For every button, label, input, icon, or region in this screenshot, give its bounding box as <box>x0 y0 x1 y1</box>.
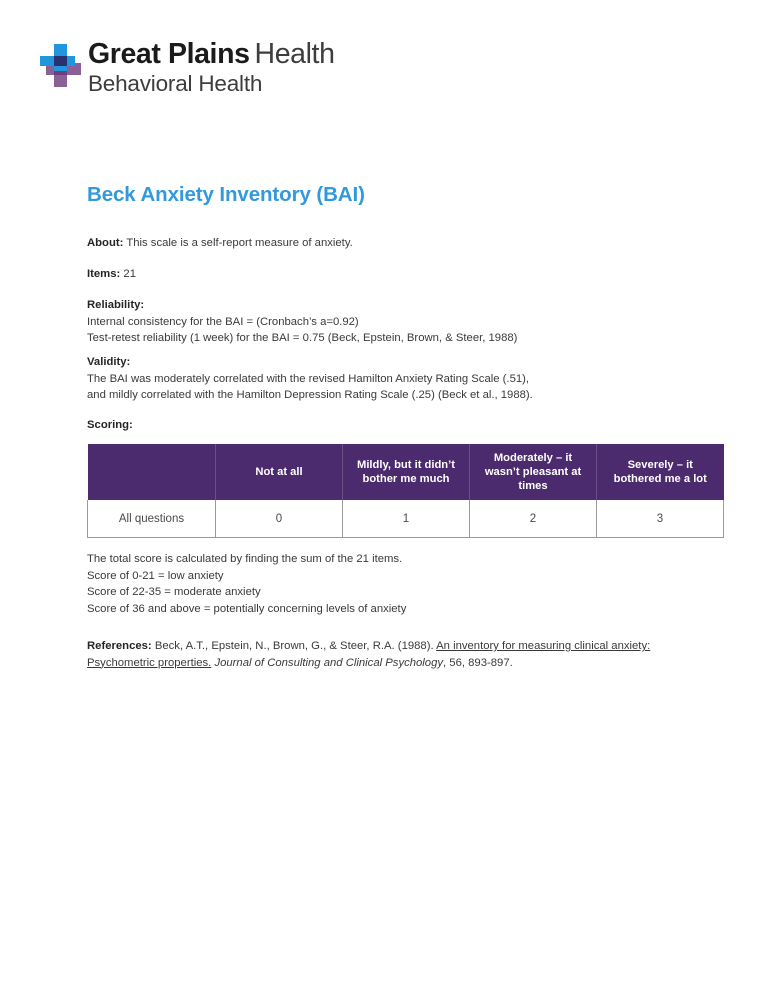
page-title: Beck Anxiety Inventory (BAI) <box>87 183 365 207</box>
great-plains-health-cross-logo <box>38 42 84 92</box>
about-label: About: <box>87 237 123 249</box>
validity-label: Validity: <box>87 354 533 371</box>
brand-logo: Great PlainsHealth Behavioral Health <box>38 40 335 95</box>
score-interpretation-section: The total score is calculated by finding… <box>87 551 406 617</box>
table-header-cell-blank <box>88 444 216 500</box>
table-cell-row-label: All questions <box>88 500 216 538</box>
scoring-label: Scoring: <box>87 417 133 434</box>
about-text: This scale is a self-report measure of a… <box>123 237 352 249</box>
validity-line-1: The BAI was moderately correlated with t… <box>87 371 533 388</box>
about-section: About: This scale is a self-report measu… <box>87 235 353 252</box>
brand-subtitle: Behavioral Health <box>88 73 335 96</box>
items-section: Items: 21 <box>87 266 136 283</box>
brand-name-bold: Great Plains <box>88 38 250 70</box>
brand-name-light: Health <box>255 38 335 70</box>
validity-section: Validity: The BAI was moderately correla… <box>87 354 533 404</box>
scoring-table: Not at all Mildly, but it didn’t bother … <box>87 444 724 538</box>
document-page: Great PlainsHealth Behavioral Health Bec… <box>0 0 768 994</box>
table-header-row: Not at all Mildly, but it didn’t bother … <box>88 444 724 500</box>
table-row: All questions 0 1 2 3 <box>88 500 724 538</box>
reliability-label: Reliability: <box>87 297 517 314</box>
table-header-cell-not-at-all: Not at all <box>216 444 343 500</box>
table-header-cell-mildly: Mildly, but it didn’t bother me much <box>343 444 470 500</box>
table-cell-score-1: 1 <box>343 500 470 538</box>
references-section: References: Beck, A.T., Epstein, N., Bro… <box>87 638 702 671</box>
table-cell-score-3: 3 <box>597 500 724 538</box>
table-header-cell-moderately: Moderately – it wasn’t pleasant at times <box>470 444 597 500</box>
items-label: Items: <box>87 268 120 280</box>
interpretation-line-1: The total score is calculated by finding… <box>87 551 406 568</box>
reliability-line-1: Internal consistency for the BAI = (Cron… <box>87 314 517 331</box>
references-label: References: <box>87 640 152 652</box>
validity-line-2: and mildly correlated with the Hamilton … <box>87 387 533 404</box>
table-cell-score-0: 0 <box>216 500 343 538</box>
table-cell-score-2: 2 <box>470 500 597 538</box>
reliability-section: Reliability: Internal consistency for th… <box>87 297 517 347</box>
references-authors: Beck, A.T., Epstein, N., Brown, G., & St… <box>152 640 436 652</box>
scoring-section-label: Scoring: <box>87 417 133 434</box>
reliability-line-2: Test-retest reliability (1 week) for the… <box>87 330 517 347</box>
references-tail: , 56, 893-897. <box>443 657 513 669</box>
interpretation-line-4: Score of 36 and above = potentially conc… <box>87 601 406 618</box>
interpretation-line-3: Score of 22-35 = moderate anxiety <box>87 584 406 601</box>
references-journal: Journal of Consulting and Clinical Psych… <box>211 657 443 669</box>
interpretation-line-2: Score of 0-21 = low anxiety <box>87 568 406 585</box>
items-value: 21 <box>120 268 136 280</box>
table-header-cell-severely: Severely – it bothered me a lot <box>597 444 724 500</box>
brand-wordmark: Great PlainsHealth Behavioral Health <box>88 40 335 95</box>
brand-name-line: Great PlainsHealth <box>88 40 335 69</box>
